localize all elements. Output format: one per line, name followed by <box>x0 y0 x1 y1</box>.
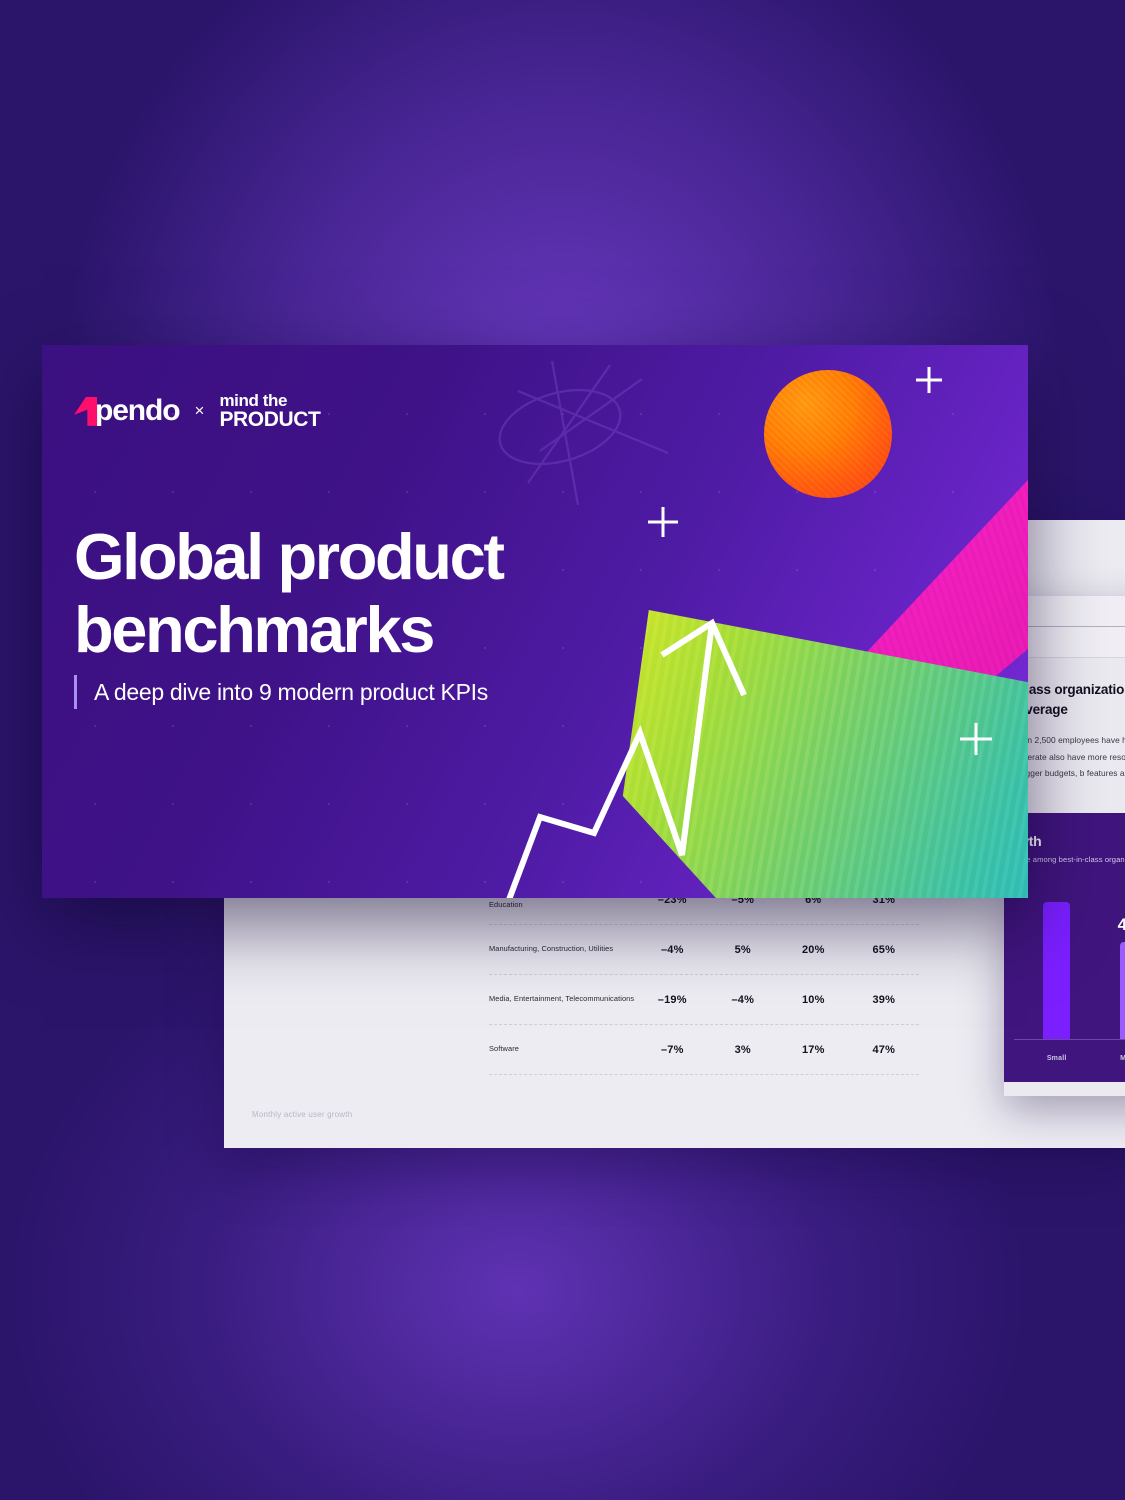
subtitle-block: A deep dive into 9 modern product KPIs <box>74 675 488 709</box>
mtp-line-1: mind the <box>219 392 320 409</box>
plus-decoration-icon <box>960 723 992 755</box>
table-cell: 20% <box>778 944 849 956</box>
mtp-line-2: PRODUCT <box>219 409 320 430</box>
table-cell: –4% <box>637 944 708 956</box>
title-line-1: Global product <box>74 520 503 593</box>
growth-arrow-line-icon <box>472 605 892 898</box>
page-title: Global product benchmarks <box>74 520 503 667</box>
subtitle-accent-bar <box>74 675 77 709</box>
orange-circle-decoration <box>764 370 892 498</box>
table-cell: –7% <box>637 1044 708 1056</box>
hero-slide[interactable]: pendo × mind the PRODUCT Global product … <box>42 345 1028 898</box>
chart-axis-line <box>1014 1039 1125 1040</box>
band-subtitle: ase among best-in-class organizat <box>1018 855 1125 864</box>
table-row: Software –7% 3% 17% 47% <box>489 1025 919 1075</box>
table-row-label: Manufacturing, Construction, Utilities <box>489 944 637 955</box>
document-footnote: Monthly active user growth <box>252 1110 352 1119</box>
bar-value-label: 44% <box>1118 915 1125 935</box>
pendo-logo: pendo <box>74 394 180 428</box>
plus-decoration-icon <box>916 367 942 393</box>
table-cell: –19% <box>637 994 708 1006</box>
table-cell: 39% <box>849 994 920 1006</box>
chart-category-labels: Small Medium <box>1004 1055 1125 1062</box>
chart-bar-group: 44% <box>1105 915 1125 1040</box>
table-cell: 65% <box>849 944 920 956</box>
table-cell: 10% <box>778 994 849 1006</box>
table-cell: –4% <box>708 994 779 1006</box>
insight-card-title: class organizations faster than average <box>1018 680 1125 719</box>
header-rule <box>1018 626 1125 627</box>
chart-category-label: Medium <box>1105 1055 1125 1062</box>
pendo-mark-icon <box>74 397 97 426</box>
table-cell: 47% <box>849 1044 920 1056</box>
title-line-2: benchmarks <box>74 593 503 666</box>
chart-bar-group <box>1028 895 1086 1040</box>
mind-the-product-logo: mind the PRODUCT <box>219 392 320 431</box>
table-row-label: Software <box>489 1044 637 1055</box>
logo-separator-icon: × <box>195 401 205 421</box>
table-cell: 17% <box>778 1044 849 1056</box>
band-title: wth <box>1018 833 1125 849</box>
page-subtitle: A deep dive into 9 modern product KPIs <box>94 679 488 706</box>
table-row: Manufacturing, Construction, Utilities –… <box>489 925 919 975</box>
table-cell: 5% <box>708 944 779 956</box>
chart-category-label: Small <box>1028 1055 1086 1062</box>
hero-logo-lockup: pendo × mind the PRODUCT <box>74 392 320 431</box>
table-row: Media, Entertainment, Telecommunications… <box>489 975 919 1025</box>
table-row-label: Media, Entertainment, Telecommunications <box>489 994 637 1005</box>
chart-bar <box>1043 902 1070 1040</box>
chart-bars: 44% 4 <box>1004 890 1125 1040</box>
table-cell: 3% <box>708 1044 779 1056</box>
chart-bar <box>1120 942 1125 1040</box>
plus-decoration-icon <box>648 507 678 537</box>
mau-growth-bar-chart: 44% 4 Small Medium <box>1004 882 1125 1082</box>
insight-card-paragraph: han 2,500 employees have higher ge compa… <box>1018 732 1125 781</box>
benchmark-table: Government, Organizations, Non-Profit, E… <box>489 875 919 1075</box>
pendo-wordmark: pendo <box>95 394 180 428</box>
